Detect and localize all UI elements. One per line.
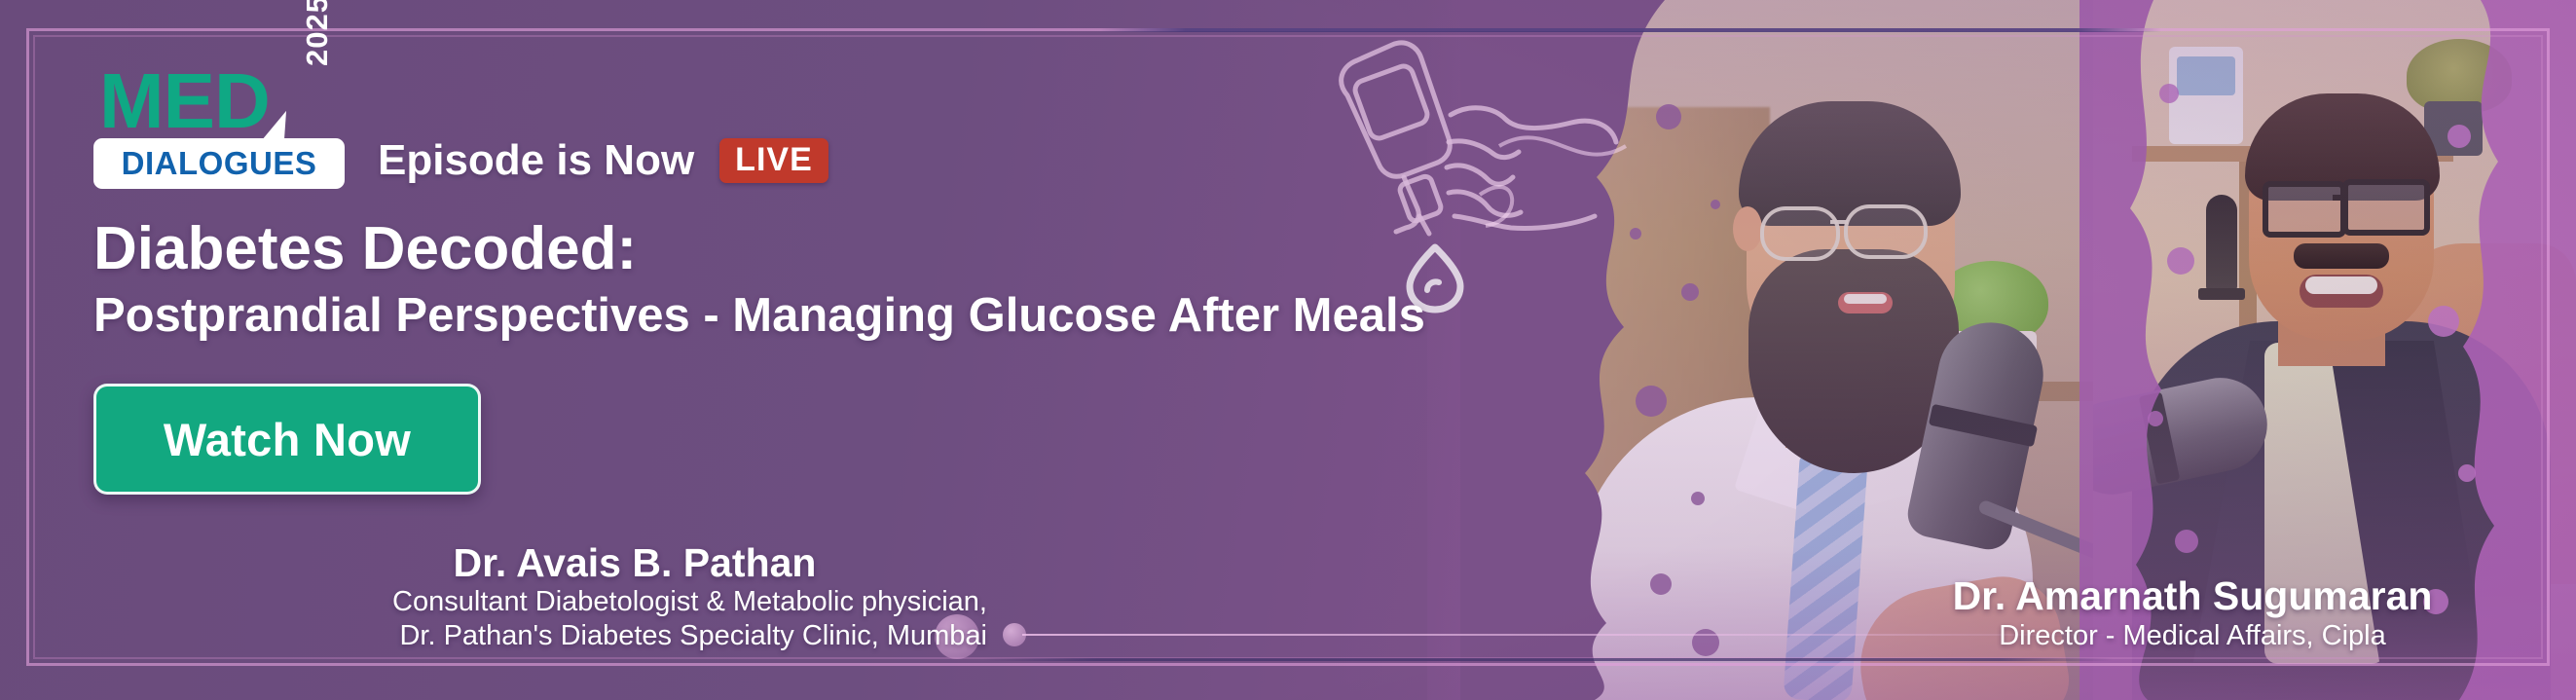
live-status-badge: LIVE (719, 138, 828, 183)
banner-content: MED 2025 DIALOGUES Episode is Now LIVE D… (93, 51, 1486, 495)
watch-now-button[interactable]: Watch Now (93, 384, 481, 495)
speaker-caption-sugumaran: Dr. Amarnath Sugumaran Director - Medica… (1822, 574, 2562, 653)
bottom-accent-rule (983, 658, 2113, 661)
logo-dialogues-badge: DIALOGUES (93, 138, 345, 189)
speaker-role-line-1: Director - Medical Affairs, Cipla (1822, 619, 2562, 653)
speaker-name: Dr. Amarnath Sugumaran (1822, 574, 2562, 619)
logo-and-eyebrow-row: MED 2025 DIALOGUES Episode is Now LIVE (93, 51, 1486, 197)
speaker-role-line-2: Dr. Pathan's Diabetes Specialty Clinic, … (286, 619, 987, 653)
logo-dialogues-wordmark: DIALOGUES (122, 145, 317, 182)
med-dialogues-logo: MED 2025 DIALOGUES (93, 53, 352, 197)
watch-now-button-label: Watch Now (164, 413, 411, 466)
logo-year-2025: 2025 (302, 0, 332, 66)
page-subtitle: Postprandial Perspectives - Managing Glu… (93, 289, 1476, 343)
page-title: Diabetes Decoded: (93, 218, 1486, 279)
speaker-role-line-1: Consultant Diabetologist & Metabolic phy… (286, 585, 987, 619)
eyebrow-row: Episode is Now LIVE (378, 136, 828, 197)
logo-med-wordmark: MED (99, 62, 270, 140)
speaker-caption-pathan: Dr. Avais B. Pathan Consultant Diabetolo… (286, 541, 987, 654)
speaker-name: Dr. Avais B. Pathan (286, 541, 987, 586)
promo-banner: MED 2025 DIALOGUES Episode is Now LIVE D… (0, 0, 2576, 700)
episode-status-text: Episode is Now (378, 136, 694, 185)
